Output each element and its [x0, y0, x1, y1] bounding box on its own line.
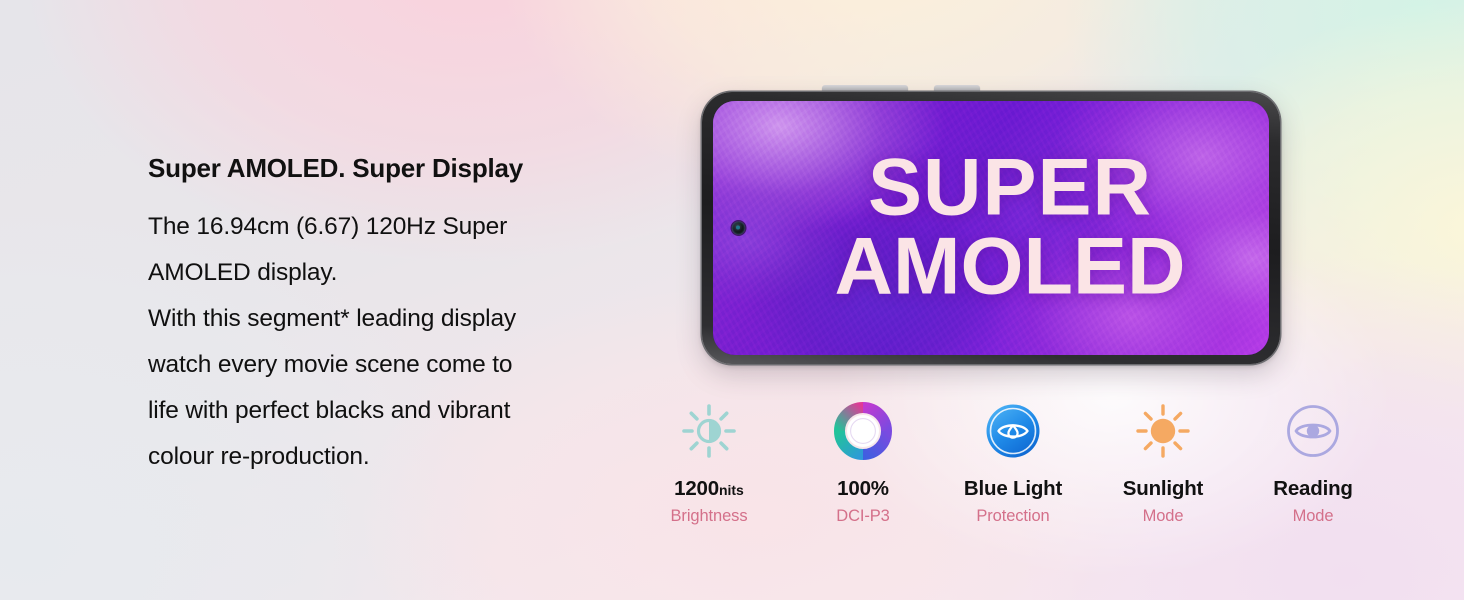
feature-value: Blue Light — [964, 477, 1062, 500]
description-line: life with perfect blacks and vibrant — [148, 388, 648, 434]
page-title: Super AMOLED. Super Display — [148, 152, 648, 185]
phone-mockup: SUPER AMOLED — [702, 92, 1280, 364]
feature-item-dci-p3: 100% DCI-P3 — [790, 398, 936, 525]
screen-wordmark: SUPER AMOLED — [713, 149, 1269, 308]
description-line: colour re-production. — [148, 434, 648, 480]
wordmark-line-2: AMOLED — [751, 228, 1269, 307]
feature-highlights-row: 1200nits Brightness — [640, 398, 1380, 525]
phone-screen: SUPER AMOLED — [713, 101, 1269, 355]
feature-subtitle: Mode — [1143, 507, 1184, 525]
feature-subtitle: DCI-P3 — [836, 507, 890, 525]
feature-title: Blue Light — [964, 478, 1062, 501]
description-line: AMOLED display. — [148, 250, 648, 296]
feature-item-reading: Reading Mode — [1240, 398, 1386, 525]
feature-title: Sunlight — [1123, 478, 1203, 501]
blue-light-eye-icon — [984, 398, 1042, 464]
feature-subtitle: Brightness — [671, 507, 748, 525]
description-text: The 16.94cm (6.67) 120Hz Super AMOLED di… — [148, 204, 648, 480]
wordmark-line-1: SUPER — [751, 149, 1269, 228]
feature-item-sunlight: Sunlight Mode — [1090, 398, 1236, 525]
feature-value: 1200 — [674, 477, 719, 500]
feature-value: 100% — [837, 477, 889, 500]
product-feature-banner: Super AMOLED. Super Display The 16.94cm … — [0, 0, 1464, 600]
feature-title: 1200nits — [674, 478, 744, 501]
feature-title: Reading — [1273, 478, 1352, 501]
feature-value: Sunlight — [1123, 477, 1203, 500]
marketing-copy-block: Super AMOLED. Super Display The 16.94cm … — [148, 152, 648, 480]
feature-subtitle: Mode — [1293, 507, 1334, 525]
brightness-sun-icon — [679, 398, 739, 464]
reading-eye-icon — [1285, 398, 1341, 464]
feature-unit: nits — [719, 482, 744, 498]
color-gamut-ring-icon — [834, 398, 892, 464]
feature-value: Reading — [1273, 477, 1352, 500]
description-line: watch every movie scene come to — [148, 342, 648, 388]
description-line: With this segment* leading display — [148, 296, 648, 342]
feature-item-brightness: 1200nits Brightness — [636, 398, 782, 525]
feature-subtitle: Protection — [976, 507, 1049, 525]
feature-title: 100% — [837, 478, 889, 501]
description-line: The 16.94cm (6.67) 120Hz Super — [148, 204, 648, 250]
sunlight-sun-icon — [1134, 398, 1192, 464]
feature-item-blue-light: Blue Light Protection — [940, 398, 1086, 525]
phone-frame: SUPER AMOLED — [702, 92, 1280, 364]
